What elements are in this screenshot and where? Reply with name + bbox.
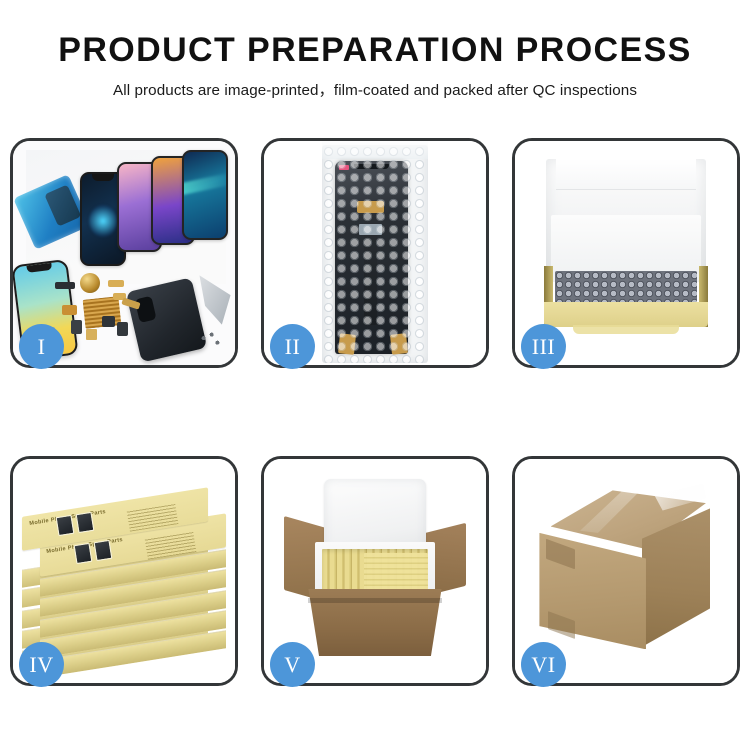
flex-connector-icon <box>357 201 384 212</box>
packed-retail-boxes-icon <box>364 553 428 591</box>
box-screen-graphic <box>56 515 74 536</box>
step-badge-3: III <box>521 324 566 369</box>
process-step-panel-6: VI <box>512 456 740 686</box>
flex-tab-icon <box>390 333 408 355</box>
driver-ic-icon <box>359 224 381 235</box>
step-badge-4: IV <box>19 642 64 687</box>
spare-part-icon <box>55 282 75 289</box>
box-screen-graphic <box>74 543 92 564</box>
phone-back-housing-icon <box>126 278 207 363</box>
process-step-panel-2: II <box>261 138 489 368</box>
product-preparation-infographic: PRODUCT PREPARATION PROCESS All products… <box>0 0 750 750</box>
spare-part-icon <box>108 280 124 287</box>
spare-part-icon <box>86 329 97 340</box>
page-title: PRODUCT PREPARATION PROCESS <box>0 33 750 69</box>
mailer-flap-icon <box>573 325 680 334</box>
header: PRODUCT PREPARATION PROCESS All products… <box>0 0 750 100</box>
step-badge-2: II <box>270 324 315 369</box>
spare-part-icon <box>71 320 82 333</box>
flex-tab-icon <box>338 333 356 355</box>
step-badge-5: V <box>270 642 315 687</box>
bag-seal-icon <box>322 141 429 159</box>
process-step-panel-4: Mobile Phone Spare Parts Mobile Phone Sp… <box>10 456 238 686</box>
process-step-panel-1: I <box>10 138 238 368</box>
speaker-coil-icon <box>80 273 100 293</box>
page-subtitle: All products are image-printed，film-coat… <box>0 78 750 100</box>
phone-screen-icon <box>182 150 229 240</box>
box-screen-graphic <box>76 512 94 533</box>
carton-lip-icon <box>308 598 441 604</box>
box-screen-graphic <box>94 540 112 561</box>
process-step-panel-5: V <box>261 456 489 686</box>
spare-part-icon <box>117 322 128 335</box>
spare-part-icon <box>102 316 115 327</box>
step-badge-1: I <box>19 324 64 369</box>
screws-icon <box>199 331 221 349</box>
qc-sticker-icon <box>339 165 349 171</box>
step-badge-6: VI <box>521 642 566 687</box>
process-step-panel-3: III <box>512 138 740 368</box>
spare-part-icon <box>62 305 78 315</box>
mailer-front-panel-icon <box>544 302 708 327</box>
process-step-grid: I II <box>10 138 740 686</box>
